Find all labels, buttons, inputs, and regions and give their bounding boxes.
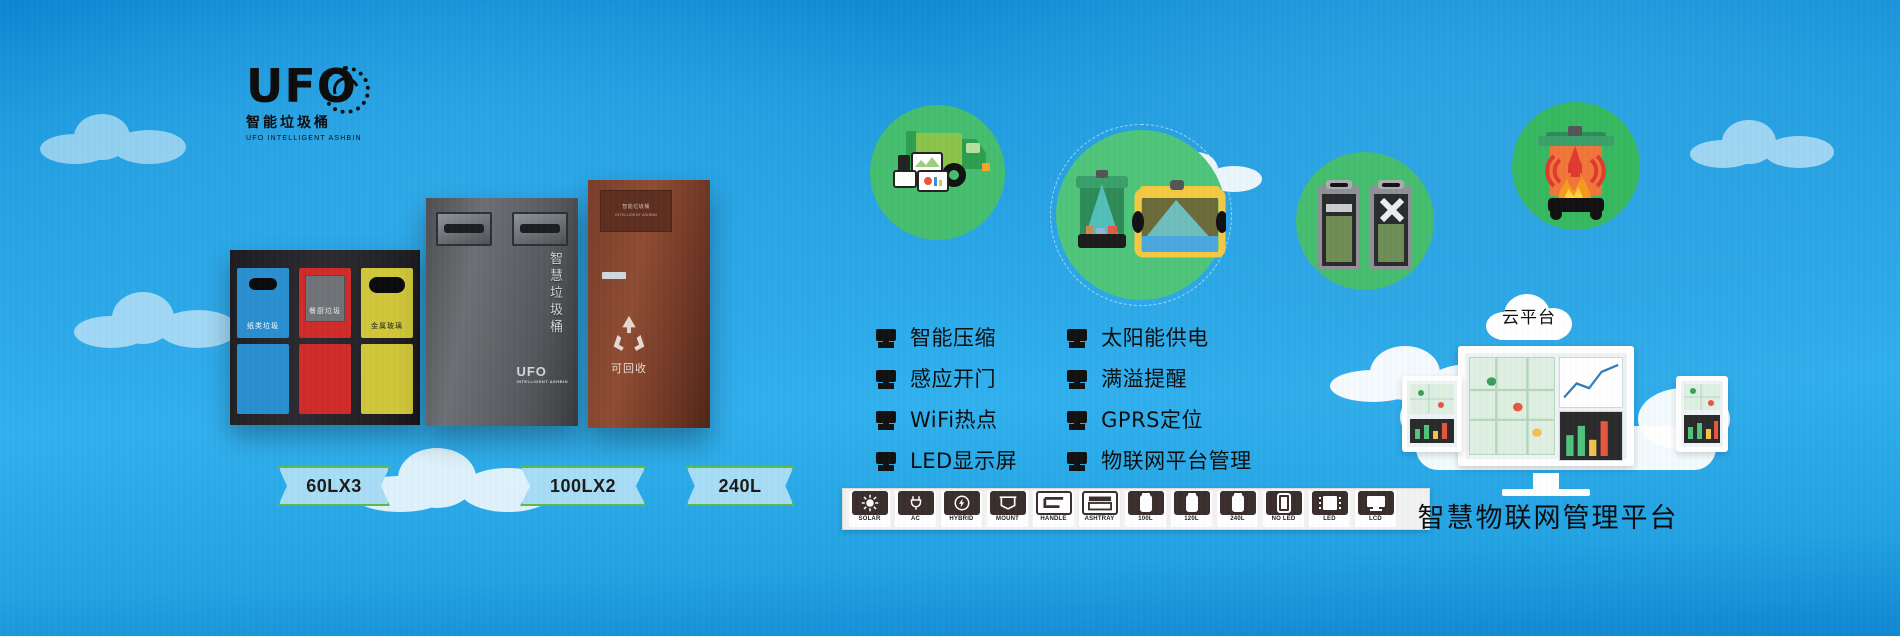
feature-item: 满溢提醒 <box>1067 363 1252 393</box>
handle-icon <box>1036 491 1072 515</box>
feature-label: 感应开门 <box>910 363 996 393</box>
bin-brand-mark: UFO INTELLIGENT ASHBIN <box>516 364 568 384</box>
option-label: HYBRID <box>949 516 973 522</box>
bin-two-compartment[interactable]: 智慧垃圾桶 UFO INTELLIGENT ASHBIN <box>426 198 578 426</box>
option-label: ASHTRAY <box>1085 516 1115 522</box>
desktop-monitor <box>1458 346 1634 466</box>
monitor-icon <box>1067 452 1087 468</box>
feature-label: 物联网平台管理 <box>1101 445 1252 475</box>
power-plug-icon <box>898 491 934 515</box>
fleet-management-circle <box>870 105 1005 240</box>
feature-label: 满溢提醒 <box>1101 363 1187 393</box>
option-label: LCD <box>1369 516 1382 522</box>
tablet <box>1402 376 1462 452</box>
cloud-decoration <box>40 110 200 170</box>
option-ashtray[interactable]: ASHTRAY <box>1079 491 1120 527</box>
cloud-decoration <box>1690 118 1840 172</box>
no-led-icon <box>1266 491 1302 515</box>
bin-100l-icon <box>1128 491 1164 515</box>
compartment-label: 餐厨垃圾 <box>299 306 351 316</box>
option-label: LED <box>1323 516 1336 522</box>
option-100l[interactable]: 100L <box>1125 491 1166 527</box>
option-no-led[interactable]: NO LED <box>1263 491 1304 527</box>
bin-slot-icon <box>249 278 277 290</box>
option-label: NO LED <box>1272 516 1296 522</box>
ultrasonic-fill-sensor-icon <box>1056 130 1226 300</box>
logo-cn-name: 智能垃圾桶 <box>246 112 366 132</box>
option-120l[interactable]: 120L <box>1171 491 1212 527</box>
feature-column-left: 智能压缩 感应开门 WiFi热点 LED显示屏 <box>876 322 1017 475</box>
ashtray-icon <box>1082 491 1118 515</box>
bin-side-text: 智慧垃圾桶 <box>550 250 566 335</box>
bin-240l-icon <box>1220 491 1256 515</box>
option-handle[interactable]: HANDLE <box>1033 491 1074 527</box>
compaction-bin-icon <box>1296 152 1434 290</box>
feature-label: WiFi热点 <box>910 404 998 434</box>
wall-mount-icon <box>990 491 1026 515</box>
monitor-icon <box>1067 370 1087 386</box>
led-panel-icon <box>1312 491 1348 515</box>
option-240l[interactable]: 240L <box>1217 491 1258 527</box>
monitor-icon <box>876 370 896 386</box>
option-hybrid[interactable]: HYBRID <box>941 491 982 527</box>
bin-120l-icon <box>1174 491 1210 515</box>
monitor-icon <box>1067 411 1087 427</box>
feature-label: 智能压缩 <box>910 322 996 352</box>
capacity-ribbon-60lx3: 60LX3 <box>278 466 390 506</box>
bin-display-panel: 智能垃圾桶 INTELLIGENT ASHBIN <box>600 190 672 232</box>
capacity-ribbon-100lx2: 100LX2 <box>520 466 646 506</box>
option-led[interactable]: LED <box>1309 491 1350 527</box>
platform-title: 智慧物联网管理平台 <box>1398 496 1698 535</box>
option-label: SOLAR <box>859 516 881 522</box>
monitor-icon <box>876 329 896 345</box>
feature-item: 感应开门 <box>876 363 1017 393</box>
option-label: 100L <box>1138 516 1152 522</box>
hybrid-bolt-icon <box>944 491 980 515</box>
smartphone <box>1676 376 1728 452</box>
monitor-icon <box>876 452 896 468</box>
cloud-platform-label: 云平台 <box>1486 303 1572 328</box>
option-label: HANDLE <box>1040 516 1066 522</box>
bin-slot-icon <box>369 277 405 293</box>
compartment-label: 金属玻璃 <box>361 321 413 331</box>
recycle-label: 可回收 <box>598 360 660 376</box>
feature-label: GPRS定位 <box>1101 404 1203 434</box>
sun-icon <box>852 491 888 515</box>
promo-banner: UFO 智能垃圾桶 UFO INTELLIGENT ASHBIN 纸类垃圾 餐厨… <box>0 0 1900 636</box>
fire-alarm-circle <box>1512 102 1640 230</box>
lcd-screen-icon <box>1358 491 1394 515</box>
bin-window-icon <box>436 212 492 246</box>
recycle-icon <box>606 312 652 358</box>
bin-single-240l[interactable]: 智能垃圾桶 INTELLIGENT ASHBIN 可回收 <box>588 180 710 428</box>
card-reader-icon <box>602 272 626 279</box>
feature-label: LED显示屏 <box>910 445 1017 475</box>
monitor-icon <box>1067 329 1087 345</box>
garbage-truck-and-devices-icon <box>870 105 1005 240</box>
capacity-ribbon-240l: 240L <box>686 466 794 506</box>
option-icon-strip: SOLAR AC HYBRID MOUNT HANDLE <box>842 488 1430 530</box>
product-lineup: 纸类垃圾 餐厨垃圾 金属玻璃 <box>200 170 760 470</box>
logo-en-name: UFO INTELLIGENT ASHBIN <box>246 135 366 142</box>
monitor-icon <box>876 411 896 427</box>
feature-item: WiFi热点 <box>876 404 1017 434</box>
bin-window-icon <box>512 212 568 246</box>
feature-item: GPRS定位 <box>1067 404 1252 434</box>
monitor-base <box>1502 489 1590 496</box>
feature-column-right: 太阳能供电 满溢提醒 GPRS定位 物联网平台管理 <box>1067 322 1252 475</box>
option-label: AC <box>911 516 920 522</box>
feature-list: 智能压缩 感应开门 WiFi热点 LED显示屏 太阳能供电 满溢提醒 <box>876 322 1336 475</box>
feature-item: 物联网平台管理 <box>1067 445 1252 475</box>
feature-label: 太阳能供电 <box>1101 322 1209 352</box>
bin-three-compartment[interactable]: 纸类垃圾 餐厨垃圾 金属玻璃 <box>230 250 420 425</box>
brand-logo: UFO 智能垃圾桶 UFO INTELLIGENT ASHBIN <box>246 62 366 162</box>
feature-item: 太阳能供电 <box>1067 322 1252 352</box>
option-lcd[interactable]: LCD <box>1355 491 1396 527</box>
option-label: 240L <box>1230 516 1244 522</box>
ufo-ring-icon <box>322 66 370 114</box>
feature-item: 智能压缩 <box>876 322 1017 352</box>
option-label: 120L <box>1184 516 1198 522</box>
compartment-label: 纸类垃圾 <box>237 321 289 331</box>
option-mount[interactable]: MOUNT <box>987 491 1028 527</box>
feature-item: LED显示屏 <box>876 445 1017 475</box>
option-ac[interactable]: AC <box>895 491 936 527</box>
fire-alarm-bin-icon <box>1512 102 1640 230</box>
fill-level-sensor-circle <box>1056 130 1226 300</box>
compaction-circle <box>1296 152 1434 290</box>
monitor-stand <box>1533 473 1559 489</box>
option-label: MOUNT <box>996 516 1019 522</box>
option-solar[interactable]: SOLAR <box>849 491 890 527</box>
